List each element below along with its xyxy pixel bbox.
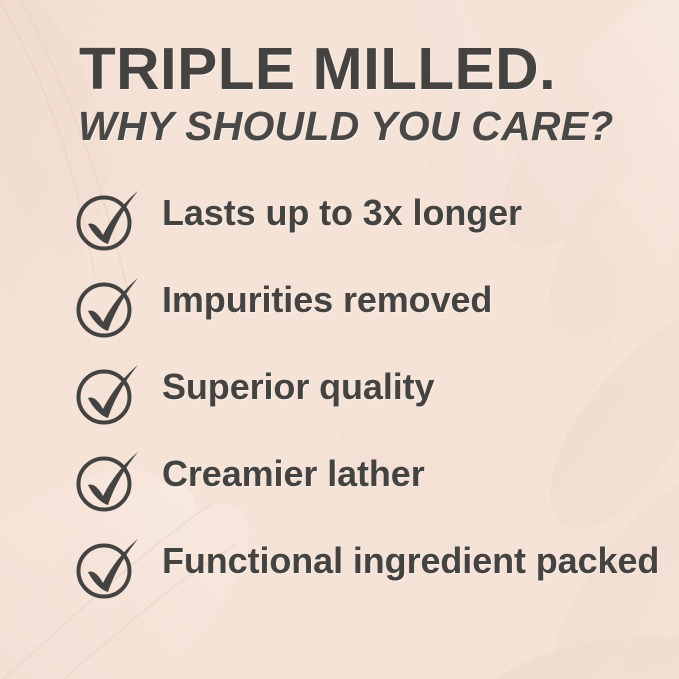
list-item-label: Creamier lather [162, 451, 672, 496]
list-item-label: Lasts up to 3x longer [162, 190, 672, 235]
check-circle-icon [72, 360, 146, 430]
list-item: Creamier lather [0, 447, 679, 534]
check-circle-icon [72, 273, 146, 343]
check-circle-icon [72, 186, 146, 256]
list-item-label: Impurities removed [162, 277, 672, 322]
check-circle-icon [72, 534, 146, 604]
benefits-list: Lasts up to 3x longer Impurities removed [0, 186, 679, 621]
list-item: Functional ingredient packed [0, 534, 679, 621]
triple-milled-benefits-poster: TRIPLE MILLED. WHY SHOULD YOU CARE? Last… [0, 0, 679, 679]
list-item-label: Superior quality [162, 364, 672, 409]
check-circle-icon [72, 447, 146, 517]
list-item: Impurities removed [0, 273, 679, 360]
page-title: TRIPLE MILLED. [79, 40, 556, 99]
page-subtitle: WHY SHOULD YOU CARE? [78, 106, 614, 147]
list-item: Superior quality [0, 360, 679, 447]
list-item-label: Functional ingredient packed [162, 538, 672, 583]
list-item: Lasts up to 3x longer [0, 186, 679, 273]
